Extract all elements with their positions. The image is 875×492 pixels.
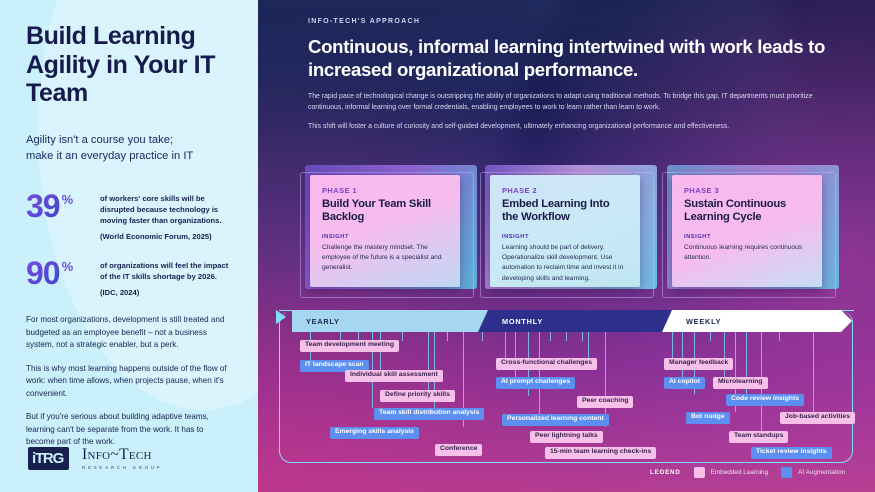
timeline-chip[interactable]: AI prompt challenges (496, 377, 575, 389)
band-yearly-label: YEARLY (292, 317, 340, 326)
card-insight-text: Challenge the mastery mindset. The emplo… (322, 243, 448, 274)
tick-line (539, 332, 540, 414)
timeline-chip[interactable]: Define priority skills (380, 390, 455, 402)
left-panel-content: Build Learning Agility in Your IT Team A… (0, 0, 258, 449)
page-title: Build Learning Agility in Your IT Team (26, 22, 234, 108)
timeline-chip[interactable]: Peer lightning talks (530, 431, 603, 443)
stat-description: of organizations will feel the impact of… (100, 260, 234, 282)
body-paragraph: But if you're serious about building ada… (26, 411, 234, 449)
timeline-chip[interactable]: Personalized learning content (502, 414, 609, 426)
tick-line (710, 332, 711, 341)
phase-card-3[interactable]: PHASE 3 Sustain Continuous Learning Cycl… (662, 172, 834, 290)
eyebrow-label: INFO-TECH'S APPROACH (308, 18, 857, 25)
legend-item-ai-augmentation: AI Augmentation (781, 467, 845, 478)
right-panel-header: INFO-TECH'S APPROACH Continuous, informa… (258, 0, 875, 133)
stat-number: 90 (26, 258, 60, 288)
legend-label: LEGEND (650, 469, 681, 476)
tick-line (813, 332, 814, 412)
stat-source: (IDC, 2024) (100, 288, 234, 297)
page-subtitle: Agility isn't a course you take; make it… (26, 132, 234, 166)
phase-card-2[interactable]: PHASE 2 Embed Learning Into the Workflow… (480, 172, 652, 296)
legend-item-text: AI Augmentation (798, 469, 845, 476)
timeline-chip[interactable]: Code review insights (726, 394, 804, 406)
timeline-arrow-icon (276, 310, 286, 324)
band-weekly-label: WEEKLY (662, 317, 721, 326)
tick-line (682, 332, 683, 377)
stat-source: (World Economic Forum, 2025) (100, 232, 234, 241)
stat-number: 39 (26, 191, 60, 221)
tick-line (515, 332, 516, 378)
left-body-copy: For most organizations, development is s… (26, 314, 234, 449)
stat-number-wrap: 39 % (26, 191, 100, 221)
timeline-chip[interactable]: Peer coaching (577, 396, 633, 408)
tick-line (724, 332, 725, 377)
timeline-chip[interactable]: Job-based activities (780, 412, 855, 424)
left-panel: Build Learning Agility in Your IT Team A… (0, 0, 258, 492)
card-insight-label: INSIGHT (322, 234, 448, 240)
stat-item: 39 % of workers' core skills will be dis… (26, 191, 234, 241)
stat-percent-sign: % (62, 259, 74, 274)
infographic-root: Build Learning Agility in Your IT Team A… (0, 0, 875, 492)
info-tech-logo-main: Info~Tech (82, 447, 162, 463)
card-phase-label: PHASE 2 (502, 186, 628, 195)
timeline-chip[interactable]: Team development meeting (300, 340, 399, 352)
body-paragraph: This is why most learning happens outsid… (26, 363, 234, 401)
body-paragraph: For most organizations, development is s… (26, 314, 234, 352)
stat-percent-sign: % (62, 192, 74, 207)
timeline-ticks-and-chips: Team development meeting IT landscape sc… (292, 332, 852, 452)
card-face: PHASE 2 Embed Learning Into the Workflow… (490, 175, 640, 287)
timeline-chip[interactable]: Team skill distribution analysis (374, 408, 484, 420)
phase-card-1[interactable]: PHASE 1 Build Your Team Skill Backlog IN… (300, 172, 472, 296)
tick-line (779, 332, 780, 341)
approach-title: Continuous, informal learning intertwine… (308, 36, 838, 81)
legend-item-text: Embedded Learning (711, 469, 769, 476)
stat-description: of workers' core skills will be disrupte… (100, 193, 234, 226)
itrg-logo: iTRG (28, 447, 69, 470)
tick-line (447, 332, 448, 341)
timeline-chip[interactable]: Emerging skills analysis (330, 427, 419, 439)
band-weekly[interactable]: WEEKLY (662, 310, 852, 332)
approach-paragraph-1: The rapid pace of technological change i… (308, 92, 818, 114)
timeline-chip[interactable]: Manager feedback (664, 358, 733, 370)
stat-text: of workers' core skills will be disrupte… (100, 191, 234, 241)
info-tech-logo: Info~Tech RESEARCH GROUP (82, 447, 162, 470)
tick-line (550, 332, 551, 341)
card-phase-label: PHASE 1 (322, 186, 448, 195)
tick-line (605, 332, 606, 427)
card-face: PHASE 1 Build Your Team Skill Backlog IN… (310, 175, 460, 287)
timeline-chip[interactable]: Conference (435, 444, 482, 456)
card-phase-label: PHASE 3 (684, 186, 810, 195)
tick-line (482, 332, 483, 341)
phase-cards: PHASE 1 Build Your Team Skill Backlog IN… (300, 172, 860, 296)
timeline-chip[interactable]: Individual skill assessment (345, 370, 443, 382)
timeline-chip[interactable]: Cross-functional challenges (496, 358, 597, 370)
logo-group: iTRG Info~Tech RESEARCH GROUP (28, 447, 162, 470)
stat-text: of organizations will feel the impact of… (100, 258, 234, 297)
card-title: Build Your Team Skill Backlog (322, 198, 448, 225)
tick-line (582, 332, 583, 341)
stat-item: 90 % of organizations will feel the impa… (26, 258, 234, 297)
timeline-chip[interactable]: Ticket review insights (751, 447, 832, 459)
approach-paragraph-2: This shift will foster a culture of curi… (308, 122, 818, 133)
statistics-list: 39 % of workers' core skills will be dis… (26, 191, 234, 297)
legend-swatch-pink (694, 467, 705, 478)
card-title: Sustain Continuous Learning Cycle (684, 198, 810, 225)
legend-item-embedded-learning: Embedded Learning (694, 467, 769, 478)
timeline-chip[interactable]: AI copilot (664, 377, 705, 389)
timeline-chip[interactable]: Microlearning (713, 377, 768, 389)
timeline-cadence-bands: YEARLY MONTHLY WEEKLY (292, 310, 852, 332)
card-insight-text: Continuous learning requires continuous … (684, 243, 810, 263)
tick-line (672, 332, 673, 358)
band-monthly-label: MONTHLY (478, 317, 543, 326)
legend: LEGEND Embedded Learning AI Augmentation (650, 467, 845, 478)
info-tech-logo-sub: RESEARCH GROUP (82, 465, 162, 470)
card-title: Embed Learning Into the Workflow (502, 198, 628, 225)
stat-number-wrap: 90 % (26, 258, 100, 288)
tick-line (505, 332, 506, 358)
timeline-chip[interactable]: 15-min team learning check-ins (545, 447, 656, 459)
timeline-chip[interactable]: Bot nudge (686, 412, 730, 424)
tick-line (402, 332, 403, 341)
card-insight-text: Learning should be part of delivery. Ope… (502, 243, 628, 284)
legend-swatch-blue (781, 467, 792, 478)
card-face: PHASE 3 Sustain Continuous Learning Cycl… (672, 175, 822, 287)
card-insight-label: INSIGHT (502, 234, 628, 240)
timeline-chip[interactable]: Team standups (729, 431, 788, 443)
tick-line (566, 332, 567, 341)
card-insight-label: INSIGHT (684, 234, 810, 240)
